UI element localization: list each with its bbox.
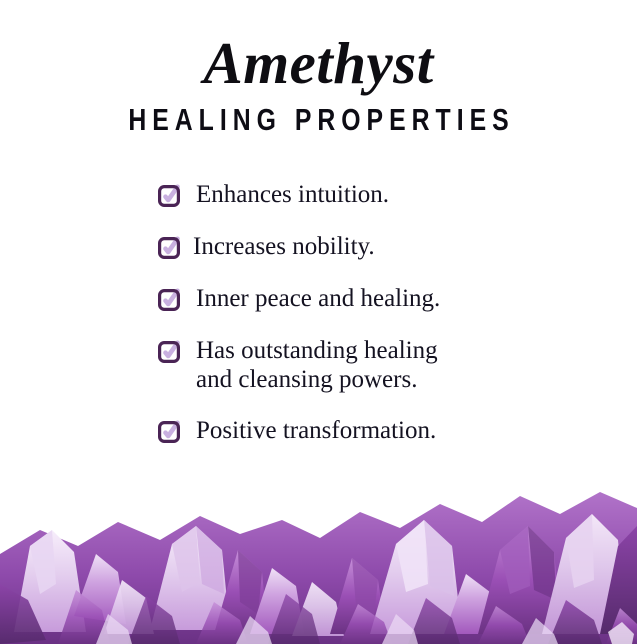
- list-item: Has outstanding healing and cleansing po…: [0, 336, 637, 394]
- page-title: Amethyst: [0, 0, 637, 93]
- checked-checkbox-icon: [158, 237, 180, 259]
- list-item-label: Has outstanding healing and cleansing po…: [196, 336, 438, 394]
- amethyst-crystal-cluster-photo: [0, 434, 637, 644]
- list-item: Increases nobility.: [0, 232, 637, 262]
- healing-properties-list: Enhances intuition. Increases nobility. …: [0, 180, 637, 446]
- list-item-label: Positive transformation.: [196, 416, 436, 446]
- list-item-label: Increases nobility.: [193, 232, 375, 262]
- checked-checkbox-icon: [158, 185, 180, 207]
- amethyst-healing-properties-poster: Amethyst HEALING PROPERTIES Enhances int…: [0, 0, 637, 644]
- list-item: Inner peace and healing.: [0, 284, 637, 314]
- checked-checkbox-icon: [158, 421, 180, 443]
- list-item: Positive transformation.: [0, 416, 637, 446]
- checked-checkbox-icon: [158, 289, 180, 311]
- poster-header: Amethyst HEALING PROPERTIES: [0, 0, 637, 135]
- page-subtitle: HEALING PROPERTIES: [64, 93, 574, 135]
- list-item-label: Enhances intuition.: [196, 180, 389, 210]
- list-item-label: Inner peace and healing.: [196, 284, 440, 314]
- list-item: Enhances intuition.: [0, 180, 637, 210]
- checked-checkbox-icon: [158, 341, 180, 363]
